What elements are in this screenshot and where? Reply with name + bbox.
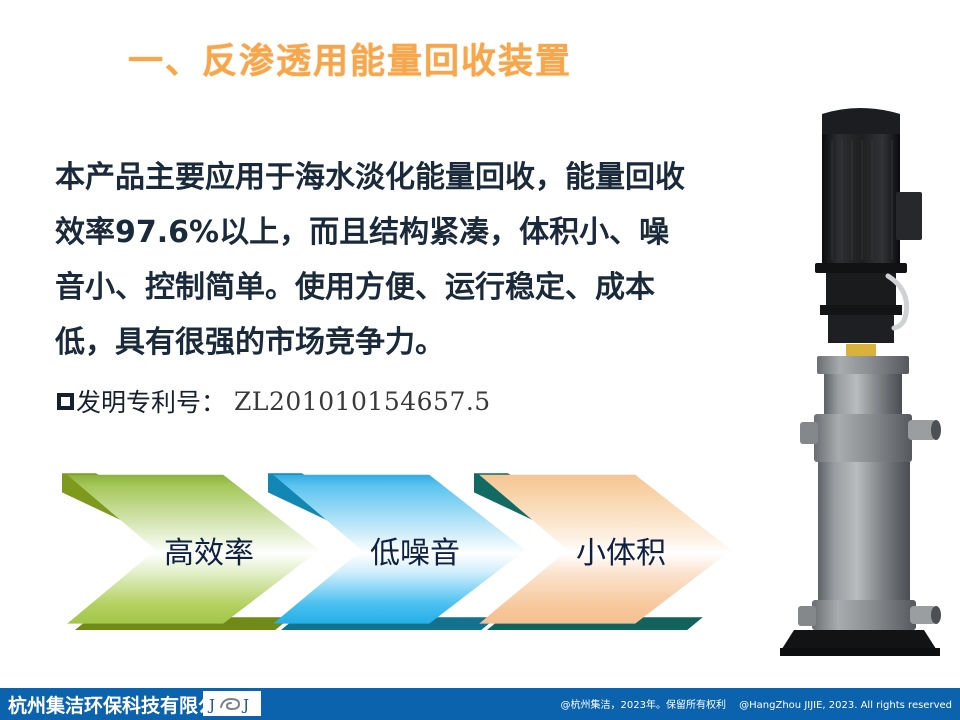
svg-text:J: J [207,696,215,714]
slide-canvas: 一、反渗透用能量回收装置 本产品主要应用于海水淡化能量回收，能量回收效率97.6… [0,0,960,720]
chevron-small-volume[interactable]: 小体积 [474,470,734,630]
jijie-logo-icon: J J [207,694,257,714]
feature-chevron-row: 高效率 低噪音 小体积 [0,470,720,640]
body-paragraph: 本产品主要应用于海水淡化能量回收，能量回收效率97.6%以上，而且结构紧凑，体积… [55,150,695,370]
footer-copyright: @杭州集洁，2023年。保留所有权利 @HangZhou JIJIE, 2023… [561,696,952,711]
page-title: 一、反渗透用能量回收装置 [0,33,700,84]
svg-text:J: J [241,696,249,714]
patent-number: ZL201010154657.5 [234,387,491,416]
footer-company-name: 杭州集洁环保科技有限公司 [8,691,236,718]
square-bullet-icon [57,393,74,410]
footer-bar: 杭州集洁环保科技有限公司 J J @杭州集洁，2023年。保留所有权利 @Han… [0,688,960,720]
patent-line: 发明专利号： ZL201010154657.5 [57,383,491,419]
chevron-face [474,470,734,630]
footer-copyright-cn: @杭州集洁，2023年。保留所有权利 [561,700,726,711]
patent-label: 发明专利号： [76,383,226,419]
pump-illustration [760,100,960,660]
footer-copyright-en: @HangZhou JIJIE, 2023. All rights reserv… [739,700,952,711]
product-photo-pump [760,100,960,660]
company-logo: J J [203,691,261,716]
